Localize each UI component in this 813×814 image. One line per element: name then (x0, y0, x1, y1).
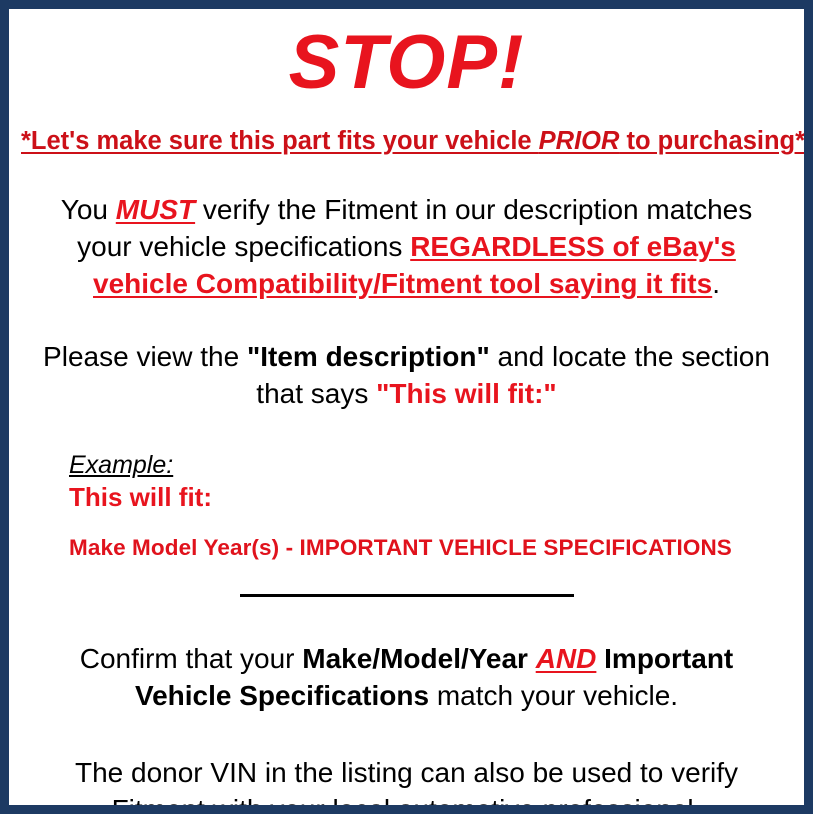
example-label: Example: (69, 451, 173, 480)
example-fit-heading: This will fit: (69, 480, 792, 513)
must-verify-paragraph: You MUST verify the Fitment in our descr… (21, 156, 792, 303)
subtitle-banner: *Let's make sure this part fits your veh… (21, 101, 792, 156)
fitment-notice-body: STOP! *Let's make sure this part fits yo… (9, 9, 804, 805)
must-text-1: You (61, 194, 116, 225)
example-spec-line: Make Model Year(s) - IMPORTANT VEHICLE S… (69, 513, 792, 561)
divider-wrapper (21, 561, 792, 605)
confirm-paragraph: Confirm that your Make/Model/Year AND Im… (21, 605, 792, 715)
subtitle-text-before: *Let's make sure this part fits your veh… (21, 127, 539, 155)
emphasis-must: MUST (116, 194, 195, 225)
emphasis-item-description: "Item description" (247, 341, 490, 372)
emphasis-make-model-year: Make/Model/Year (302, 643, 528, 674)
page-title: STOP! (21, 9, 792, 101)
confirm-text-1: Confirm that your (80, 643, 303, 674)
view-description-paragraph: Please view the "Item description" and l… (21, 303, 792, 413)
horizontal-rule-icon (240, 594, 574, 597)
subtitle-emphasis-prior: PRIOR (539, 127, 620, 155)
fitment-notice-frame: STOP! *Let's make sure this part fits yo… (0, 0, 813, 814)
subtitle-text-after: to purchasing* (619, 127, 805, 155)
emphasis-and: AND (536, 643, 597, 674)
emphasis-this-will-fit: "This will fit:" (376, 378, 557, 409)
must-text-3: . (712, 268, 720, 299)
view-text-1: Please view the (43, 341, 247, 372)
example-block: Example: This will fit: Make Model Year(… (21, 413, 792, 561)
confirm-text-2: match your vehicle. (429, 680, 678, 711)
example-label-row: Example: (69, 451, 792, 480)
donor-vin-paragraph: The donor VIN in the listing can also be… (21, 715, 792, 814)
